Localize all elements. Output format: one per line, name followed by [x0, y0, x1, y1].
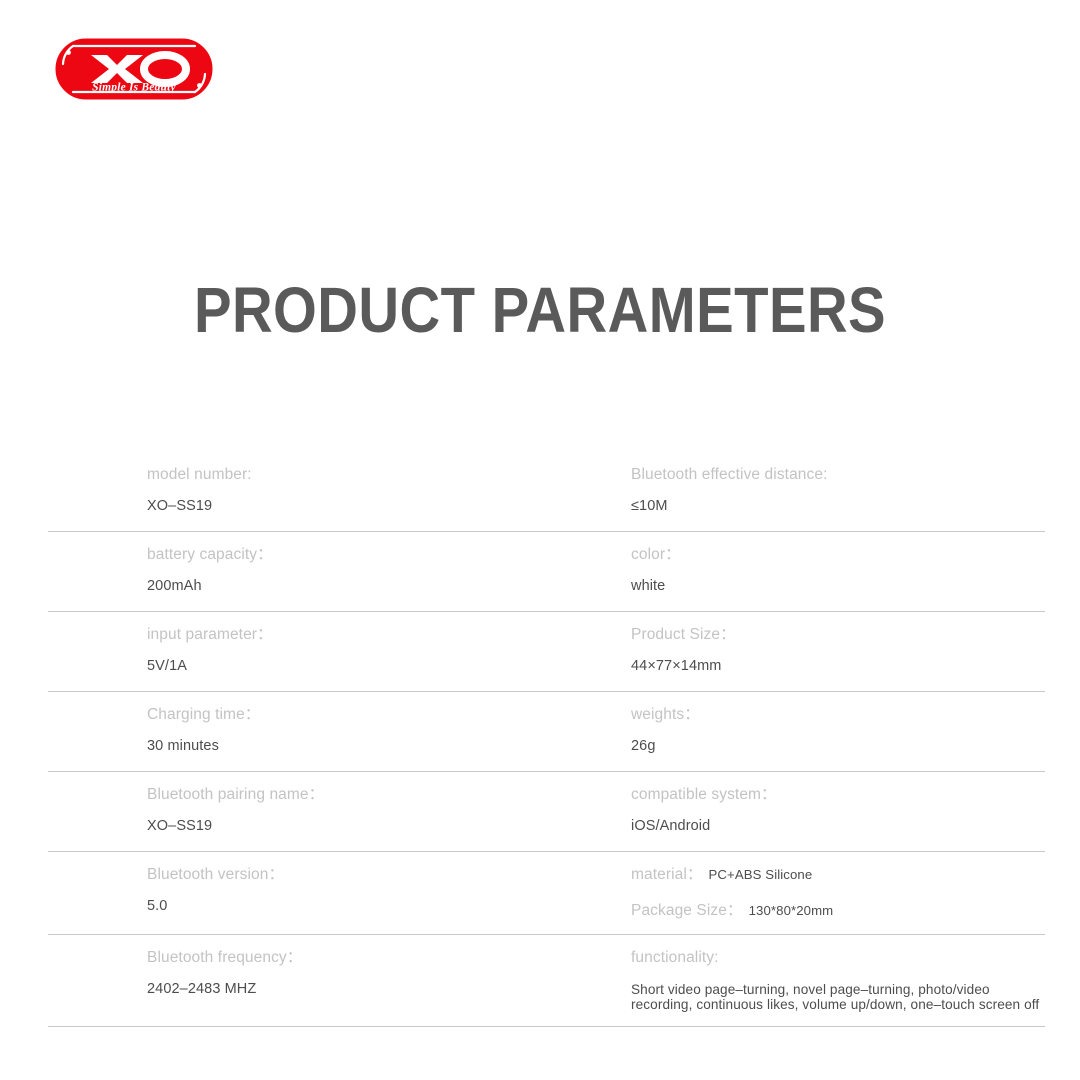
spec-label: Charging time：	[147, 706, 514, 725]
spec-cell-model-number: model number: XO–SS19	[48, 452, 514, 531]
table-row: battery capacity： 200mAh color： white	[48, 532, 1045, 612]
page-title: PRODUCT PARAMETERS	[65, 275, 1015, 345]
spec-value: white	[631, 578, 1045, 595]
table-row: input parameter： 5V/1A Product Size： 44×…	[48, 612, 1045, 692]
spec-value: ≤10M	[631, 498, 1045, 515]
table-row: model number: XO–SS19 Bluetooth effectiv…	[48, 452, 1045, 532]
spec-value: 26g	[631, 738, 1045, 755]
spec-value: XO–SS19	[147, 818, 514, 835]
spec-label: input parameter：	[147, 626, 514, 645]
spec-pair-material: material： PC+ABS Silicone	[631, 866, 1045, 885]
spec-label: model number:	[147, 466, 514, 485]
spec-label: Bluetooth frequency：	[147, 949, 514, 968]
spec-cell-product-size: Product Size： 44×77×14mm	[514, 612, 1045, 691]
spec-value: 44×77×14mm	[631, 658, 1045, 675]
spec-cell-color: color： white	[514, 532, 1045, 611]
spec-label: color：	[631, 546, 1045, 565]
spec-label: battery capacity：	[147, 546, 514, 565]
spec-label: compatible system：	[631, 786, 1045, 805]
spec-cell-bluetooth-version: Bluetooth version： 5.0	[48, 852, 514, 934]
spec-label: Package Size：	[631, 902, 743, 921]
spec-label: weights：	[631, 706, 1045, 725]
spec-label: Bluetooth version：	[147, 866, 514, 885]
xo-logo-graphic: Simple Is Beauty	[55, 38, 213, 100]
spec-cell-input-parameter: input parameter： 5V/1A	[48, 612, 514, 691]
spec-cell-weights: weights： 26g	[514, 692, 1045, 771]
product-parameters-table: model number: XO–SS19 Bluetooth effectiv…	[48, 452, 1045, 1027]
xo-logo: Simple Is Beauty	[55, 38, 213, 100]
spec-cell-functionality: functionality: Short video page–turning,…	[514, 935, 1045, 1026]
spec-value: 30 minutes	[147, 738, 514, 755]
spec-value: PC+ABS Silicone	[709, 867, 813, 882]
spec-value: 5.0	[147, 898, 514, 915]
spec-cell-bluetooth-frequency: Bluetooth frequency： 2402–2483 MHZ	[48, 935, 514, 1026]
spec-value: XO–SS19	[147, 498, 514, 515]
spec-cell-material-package-size: material： PC+ABS Silicone Package Size： …	[514, 852, 1045, 934]
spec-cell-charging-time: Charging time： 30 minutes	[48, 692, 514, 771]
spec-cell-battery-capacity: battery capacity： 200mAh	[48, 532, 514, 611]
spec-cell-bluetooth-effective-distance: Bluetooth effective distance: ≤10M	[514, 452, 1045, 531]
spec-label: Bluetooth pairing name：	[147, 786, 514, 805]
table-row: Charging time： 30 minutes weights： 26g	[48, 692, 1045, 772]
logo-tagline-text: Simple Is Beauty	[92, 82, 176, 94]
spec-value: 5V/1A	[147, 658, 514, 675]
table-row: Bluetooth pairing name： XO–SS19 compatib…	[48, 772, 1045, 852]
spec-value: iOS/Android	[631, 818, 1045, 835]
spec-cell-compatible-system: compatible system： iOS/Android	[514, 772, 1045, 851]
spec-value: 200mAh	[147, 578, 514, 595]
spec-value: 130*80*20mm	[749, 903, 834, 918]
spec-cell-bluetooth-pairing-name: Bluetooth pairing name： XO–SS19	[48, 772, 514, 851]
spec-label: Product Size：	[631, 626, 1045, 645]
table-row: Bluetooth frequency： 2402–2483 MHZ funct…	[48, 935, 1045, 1027]
spec-label: material：	[631, 866, 703, 885]
spec-value: 2402–2483 MHZ	[147, 981, 514, 998]
spec-pair-package-size: Package Size： 130*80*20mm	[631, 902, 1045, 921]
table-row: Bluetooth version： 5.0 material： PC+ABS …	[48, 852, 1045, 935]
spec-label: Bluetooth effective distance:	[631, 466, 1045, 485]
spec-value: Short video page–turning, novel page–tur…	[631, 982, 1045, 1012]
spec-label: functionality:	[631, 949, 1045, 968]
